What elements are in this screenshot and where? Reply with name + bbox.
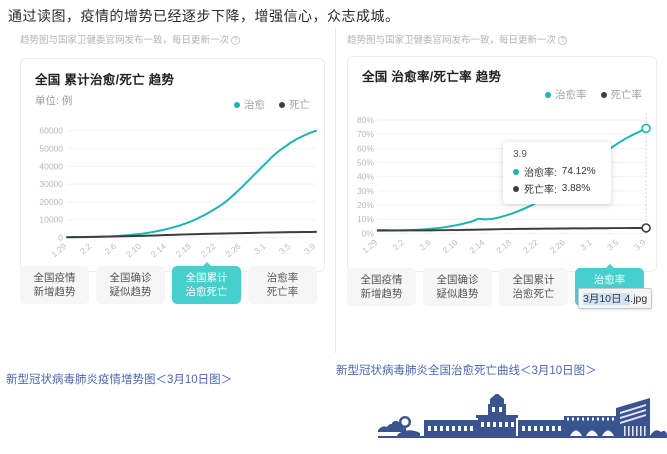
left-chart-plot: 01000020000300004000050000600001.292.22.… bbox=[21, 114, 324, 271]
svg-text:3.5: 3.5 bbox=[605, 237, 621, 252]
tab-label-line2: 疑似趋势 bbox=[110, 285, 152, 299]
tab-label-line2: 治愈死亡 bbox=[513, 287, 555, 301]
right-card-title: 全国 治愈率/死亡率 趋势 bbox=[348, 57, 656, 85]
legend-dot-death bbox=[279, 102, 285, 108]
svg-text:60000: 60000 bbox=[39, 126, 63, 136]
left-chart-card: 全国 累计治愈/死亡 趋势 单位: 例 治愈 死亡 01000020000300… bbox=[20, 58, 325, 272]
legend-dot-cure-rate bbox=[545, 92, 551, 98]
svg-text:2.10: 2.10 bbox=[124, 241, 143, 259]
legend-label-death: 死亡 bbox=[289, 97, 310, 112]
question-mark-icon[interactable]: ? bbox=[231, 36, 240, 45]
left-tabbar: 全国疫情 新增趋势 全国确诊 疑似趋势 全国累计 治愈死亡 治愈率 死亡率 bbox=[20, 266, 317, 304]
tab-national-confirmed-suspected[interactable]: 全国确诊 疑似趋势 bbox=[96, 266, 165, 304]
svg-text:70%: 70% bbox=[357, 129, 374, 139]
right-panel-note-text: 趋势图与国家卫健委官网发布一致，每日更新一次 bbox=[347, 35, 556, 46]
svg-text:0%: 0% bbox=[362, 228, 375, 238]
svg-text:20%: 20% bbox=[357, 200, 374, 210]
right-panel-note: 趋势图与国家卫健委官网发布一致，每日更新一次? bbox=[341, 30, 663, 52]
skyline-svg bbox=[378, 394, 667, 444]
svg-text:2.14: 2.14 bbox=[149, 241, 168, 259]
legend-dot-cure bbox=[234, 102, 240, 108]
legend-item-death[interactable]: 死亡 bbox=[279, 97, 310, 112]
chart-tooltip: 3.9 治愈率: 74.12% 死亡率: 3.88% bbox=[503, 142, 611, 204]
tooltip-row-death-rate: 死亡率: 3.88% bbox=[513, 181, 601, 196]
svg-text:2.18: 2.18 bbox=[494, 237, 513, 255]
svg-text:60%: 60% bbox=[357, 143, 374, 153]
svg-text:20000: 20000 bbox=[39, 197, 63, 207]
svg-text:2.26: 2.26 bbox=[223, 241, 242, 259]
svg-text:3.1: 3.1 bbox=[578, 237, 594, 252]
left-card-title: 全国 累计治愈/死亡 趋势 bbox=[21, 59, 324, 88]
page-headline: 通过读图，疫情的增势已经逐步下降，增强信心，众志成城。 bbox=[8, 6, 400, 26]
svg-text:1.29: 1.29 bbox=[360, 237, 379, 255]
legend-label-cure: 治愈 bbox=[244, 97, 265, 112]
tab-label-line1: 全国累计 bbox=[513, 273, 555, 287]
page-root: 通过读图，疫情的增势已经逐步下降，增强信心，众志成城。 趋势图与国家卫健委官网发… bbox=[0, 0, 667, 454]
svg-text:50000: 50000 bbox=[39, 144, 63, 154]
tooltip-row-cure-rate: 治愈率: 74.12% bbox=[513, 164, 601, 179]
question-mark-icon[interactable]: ? bbox=[558, 36, 567, 45]
right-chart-legend: 治愈率 死亡率 bbox=[545, 87, 642, 102]
left-chart-legend: 治愈 死亡 bbox=[234, 97, 310, 112]
left-panel-note-text: 趋势图与国家卫健委官网发布一致，每日更新一次 bbox=[20, 35, 229, 46]
svg-text:30000: 30000 bbox=[39, 179, 63, 189]
tab-national-new-trend[interactable]: 全国疫情 新增趋势 bbox=[347, 268, 416, 306]
svg-text:2.22: 2.22 bbox=[199, 241, 218, 259]
tab-label-line1: 全国疫情 bbox=[361, 273, 403, 287]
left-chart-panel: 趋势图与国家卫健委官网发布一致，每日更新一次? 全国 累计治愈/死亡 趋势 单位… bbox=[8, 30, 333, 350]
svg-text:2.22: 2.22 bbox=[521, 237, 540, 255]
file-name-tooltip: 3月10日 4.jpg bbox=[578, 288, 652, 309]
tab-national-cumulative-cured-death[interactable]: 全国累计 治愈死亡 bbox=[499, 268, 568, 306]
svg-text:2.2: 2.2 bbox=[390, 237, 406, 252]
tab-label-line1: 全国累计 bbox=[186, 271, 228, 285]
tooltip-dot-cure-rate bbox=[513, 169, 519, 175]
tab-label-line2: 新增趋势 bbox=[34, 285, 76, 299]
right-chart-card: 全国 治愈率/死亡率 趋势 治愈率 死亡率 0%10%20%30%40%50%6… bbox=[347, 56, 657, 272]
tooltip-label-cure-rate: 治愈率: bbox=[524, 164, 557, 179]
tab-label-line1: 治愈率 bbox=[594, 273, 626, 287]
legend-dot-death-rate bbox=[601, 92, 607, 98]
svg-text:3.1: 3.1 bbox=[252, 241, 268, 256]
svg-text:30%: 30% bbox=[357, 186, 374, 196]
tab-national-cumulative-cured-death[interactable]: 全国累计 治愈死亡 bbox=[172, 266, 241, 304]
legend-label-death-rate: 死亡率 bbox=[611, 87, 643, 102]
svg-text:2.10: 2.10 bbox=[441, 237, 460, 255]
right-caption: 新型冠状病毒肺炎全国治愈死亡曲线＜3月10日图＞ bbox=[336, 362, 597, 378]
left-panel-note: 趋势图与国家卫健委官网发布一致，每日更新一次? bbox=[8, 30, 333, 52]
svg-text:2.18: 2.18 bbox=[174, 241, 193, 259]
tooltip-value-cure-rate: 74.12% bbox=[562, 166, 596, 177]
svg-text:3.5: 3.5 bbox=[277, 241, 293, 256]
svg-text:10%: 10% bbox=[357, 214, 374, 224]
tab-label-line1: 全国确诊 bbox=[110, 271, 152, 285]
tab-label-line2: 疑似趋势 bbox=[437, 287, 479, 301]
left-caption: 新型冠状病毒肺炎疫情增势图＜3月10日图＞ bbox=[6, 371, 232, 387]
cumulative-line-chart: 01000020000300004000050000600001.292.22.… bbox=[21, 114, 324, 271]
svg-text:40%: 40% bbox=[357, 172, 374, 182]
legend-item-death-rate[interactable]: 死亡率 bbox=[601, 87, 643, 102]
legend-label-cure-rate: 治愈率 bbox=[555, 87, 587, 102]
tab-national-confirmed-suspected[interactable]: 全国确诊 疑似趋势 bbox=[423, 268, 492, 306]
tab-national-new-trend[interactable]: 全国疫情 新增趋势 bbox=[20, 266, 89, 304]
svg-text:80%: 80% bbox=[357, 115, 374, 125]
tab-label-line2: 死亡率 bbox=[267, 285, 299, 299]
svg-text:1.29: 1.29 bbox=[49, 241, 68, 259]
svg-text:2.2: 2.2 bbox=[78, 241, 94, 256]
svg-text:2.6: 2.6 bbox=[417, 237, 433, 252]
svg-text:2.6: 2.6 bbox=[103, 241, 119, 256]
svg-text:3.9: 3.9 bbox=[302, 241, 318, 256]
tab-label-line2: 治愈死亡 bbox=[186, 285, 228, 299]
panel-divider bbox=[335, 28, 336, 353]
svg-text:3.9: 3.9 bbox=[632, 237, 648, 252]
file-name-selected: 3月10日 4 bbox=[583, 293, 630, 305]
tab-label-line1: 全国确诊 bbox=[437, 273, 479, 287]
city-skyline-illustration bbox=[378, 394, 667, 444]
file-name-extension: .jpg bbox=[630, 293, 647, 305]
tab-label-line2: 新增趋势 bbox=[361, 287, 403, 301]
tab-label-line1: 全国疫情 bbox=[34, 271, 76, 285]
svg-text:50%: 50% bbox=[357, 158, 374, 168]
svg-text:10000: 10000 bbox=[39, 215, 63, 225]
legend-item-cure-rate[interactable]: 治愈率 bbox=[545, 87, 587, 102]
tooltip-dot-death-rate bbox=[513, 186, 519, 192]
legend-item-cure[interactable]: 治愈 bbox=[234, 97, 265, 112]
svg-text:40000: 40000 bbox=[39, 161, 63, 171]
tooltip-x-value: 3.9 bbox=[513, 149, 601, 160]
tab-cure-rate-death-rate[interactable]: 治愈率 死亡率 bbox=[248, 266, 317, 304]
tab-label-line1: 治愈率 bbox=[267, 271, 299, 285]
tooltip-value-death-rate: 3.88% bbox=[562, 183, 590, 194]
tooltip-label-death-rate: 死亡率: bbox=[524, 181, 557, 196]
svg-text:2.26: 2.26 bbox=[548, 237, 567, 255]
svg-text:2.14: 2.14 bbox=[467, 237, 486, 255]
